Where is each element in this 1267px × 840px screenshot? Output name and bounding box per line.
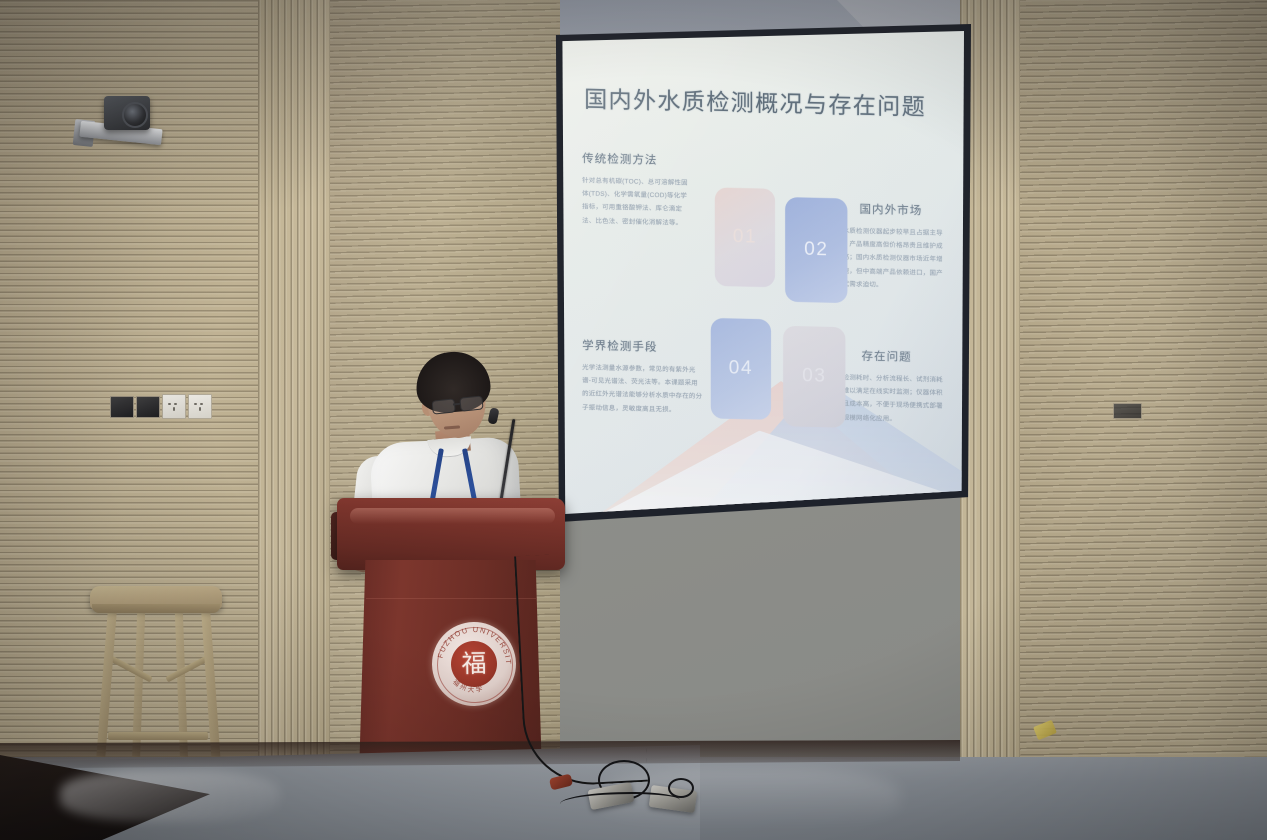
eyeglass-lens-left [431,398,455,414]
power-socket-icon[interactable] [162,394,186,419]
wall-panel-vertical-battens [258,0,330,800]
slide-body-top-left: 针对总有机碳(TOC)、总可溶解性固体(TDS)、化学需氧量(COD)等化学指标… [582,174,693,230]
emblem-chinese-textpath: 福州大学 [451,677,485,695]
slide-body-bottom-left: 光学法测量水源参数，常见的有紫外光谱-可见光谱法、荧光法等。本课题采用的近红外光… [582,361,703,417]
slide-title: 国内外水质检测概况与存在问题 [584,80,946,123]
stool-brace [165,656,208,683]
camera-lens-icon [122,102,148,128]
socket-glyph-icon [168,400,181,413]
slide-card-04: 04 [711,318,771,420]
slide-card-02: 02 [785,197,847,303]
slide-heading-bottom-right: 存在问题 [862,348,912,365]
slide-card-01: 01 [715,187,775,287]
slide-body-bottom-right: 传统检测耗时、分析流程长、试剂消耗大，难以满足在线实时监测；仪器体积庞大且成本高… [829,371,946,427]
slide-heading-bottom-left: 学界检测手段 [582,337,657,355]
slide-heading-top-left: 传统检测方法 [582,150,657,168]
floor-cable [514,550,648,788]
slide-card-03: 03 [783,326,845,428]
emblem-ring-text-latin: FUZHOU UNIVERSITY 福州大学 [431,621,516,706]
stool-brace [109,656,152,683]
floor-reflection [60,770,280,822]
podium-top-highlight [350,508,555,524]
podium-seam [366,598,536,599]
socket-glyph-icon [194,400,207,413]
floor-cable-tail [560,792,680,812]
svg-text:福州大学: 福州大学 [451,677,485,695]
stool-seat-edge [92,604,220,613]
svg-text:FUZHOU UNIVERSITY: FUZHOU UNIVERSITY [431,621,513,667]
university-emblem: FUZHOU UNIVERSITY 福州大学 福 [431,621,516,706]
stool-footrest [108,732,208,740]
wall-outlet-right-icon[interactable] [1113,403,1142,419]
eyeglass-lens-right [459,395,483,411]
presentation-slide: 国内外水质检测概况与存在问题 传统检测方法 针对总有机碳(TOC)、总可溶解性固… [560,31,964,514]
cable-port-icon[interactable] [136,396,160,418]
emblem-latin-textpath: FUZHOU UNIVERSITY [431,621,513,667]
presentation-scene: 国内外水质检测概况与存在问题 传统检测方法 针对总有机碳(TOC)、总可溶解性固… [0,0,1267,840]
cable-port-icon[interactable] [110,396,134,418]
projection-screen-surface: 国内外水质检测概况与存在问题 传统检测方法 针对总有机碳(TOC)、总可溶解性固… [560,31,964,514]
slide-heading-top-right: 国内外市场 [859,201,922,219]
power-socket-icon[interactable] [188,394,212,419]
